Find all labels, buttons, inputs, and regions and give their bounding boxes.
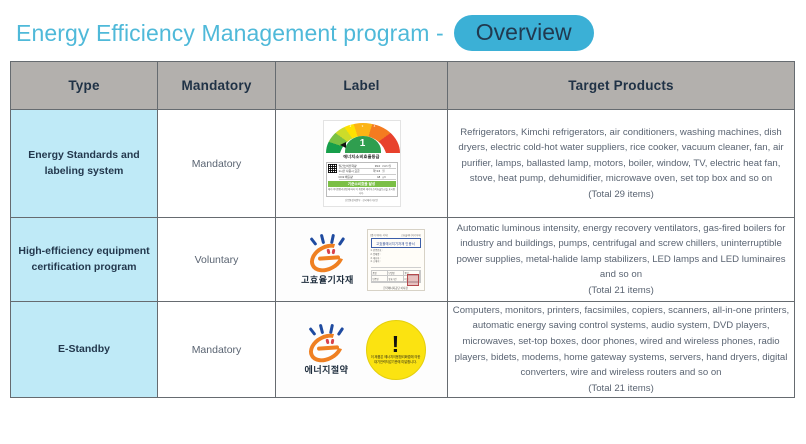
energy-label-caption: 에너지소비효율등급 [326,154,398,160]
spec-name: CO2 배출량 [339,175,366,179]
certificate-body-line: 4. 소재지 : [371,261,421,265]
ray-icon [309,237,317,246]
certificate-cell: 유효기간 [388,276,404,281]
gauge-tick: 5 [386,124,388,128]
energy-label-issuer: 산업통상자원부 · 한국에너지공단 [326,199,398,202]
gauge-tick: 4 [374,124,376,128]
efficiency-gauge-icon: 1 2 3 4 5 1 [326,123,400,153]
cell-target-products: Automatic luminous intensity, energy rec… [448,218,795,302]
certificate-signature: 한국에너지공단 이사장 [371,286,421,290]
ray-icon [328,323,333,333]
gauge-tick-labels: 1 2 3 4 5 [326,124,400,128]
column-header-label: Label [276,62,448,110]
gauge-tick: 1 [338,124,340,128]
ray-icon [329,233,334,243]
target-products-text: Automatic luminous intensity, energy rec… [457,223,786,281]
standby-warning-badge-icon: ! 이 제품은 에너지이용합리화법에 의한 대기전력저감기준에 미달합니다. [366,320,426,380]
cell-label: 고효율기자재 [별지 제1호 서식] 고효율에너지기자재 고효율에너지기자재 인… [276,218,448,302]
programs-table-wrapper: Type Mandatory Label Target Products Ene… [10,61,792,398]
energy-saving-logo: 에너지절약 [298,324,356,376]
cell-mandatory: Mandatory [158,302,276,398]
ray-icon [319,233,325,243]
spec-unit: 원 [382,169,395,173]
ray-icon [318,323,324,333]
target-products-total: (Total 21 items) [588,285,654,296]
table-row: High-efficiency equipment certification … [11,218,795,302]
target-products-total: (Total 29 items) [588,189,654,200]
cell-target-products: Refrigerators, Kimchi refrigerators, air… [448,110,795,218]
target-products-text: Computers, monitors, printers, facsimile… [453,305,789,378]
target-products-text: Refrigerators, Kimchi refrigerators, air… [458,127,783,185]
gauge-tick: 3 [362,124,364,128]
energy-label-top: 월간소비전력량 39.0 kWh/월 1시간 사용시 요금 약 3.6 원 [328,164,396,180]
column-header-mandatory: Mandatory [158,62,276,110]
page-title-text: Energy Efficiency Management program - [16,20,444,47]
column-header-target-products: Target Products [448,62,795,110]
table-header: Type Mandatory Label Target Products [11,62,795,110]
table-row: Energy Standards and labeling system Man… [11,110,795,218]
certificate-cell: 인증일 [372,276,388,281]
e-eye-icon [326,248,330,253]
e-eye-icon [330,338,333,343]
page-title: Energy Efficiency Management program - O… [0,0,806,52]
programs-table: Type Mandatory Label Target Products Ene… [10,61,795,398]
spec-unit: g/h [382,175,395,179]
energy-label-footnote: 에너지이용합리화법에 따라 이 제품의 에너지소비효율등급을 표시합니다. [328,188,396,195]
spec-value: 39.0 [367,164,380,168]
certificate-title: 고효율에너지기자재 인증서 [371,238,421,248]
gauge-tick: 2 [350,124,352,128]
energy-label-green-bar: 기준소비효율 달성 [328,181,396,187]
spec-name: 1시간 사용시 요금 [339,169,366,173]
e-smile-icon [301,324,353,362]
certificate-cell: 모델명 [388,271,404,276]
ray-icon [308,327,316,336]
energy-label-info-panel: 월간소비전력량 39.0 kWh/월 1시간 사용시 요금 약 3.6 원 [326,162,398,197]
table-header-row: Type Mandatory Label Target Products [11,62,795,110]
qr-code-icon [328,164,337,173]
certificate-header: [별지 제1호 서식] 고효율에너지기자재 [371,233,421,237]
high-efficiency-label-images: 고효율기자재 [별지 제1호 서식] 고효율에너지기자재 고효율에너지기자재 인… [276,229,447,291]
column-header-type: Type [11,62,158,110]
cell-label: 1 2 3 4 5 1 에너지소비효율등급 [276,110,448,218]
spec-row: CO2 배출량 18 g/h [339,175,396,180]
certificate-header-left: [별지 제1호 서식] [371,233,388,237]
overview-badge: Overview [454,15,594,51]
e-smile-icon [302,234,354,272]
energy-grade-label-image: 1 2 3 4 5 1 에너지소비효율등급 [323,120,401,206]
cell-type: High-efficiency equipment certification … [11,218,158,302]
cell-label: 에너지절약 ! 이 제품은 에너지이용합리화법에 의한 대기전력저감기준에 미달… [276,302,448,398]
cell-mandatory: Mandatory [158,110,276,218]
e-eye-icon [325,338,329,343]
energy-saving-logo-text: 에너지절약 [298,363,356,376]
e-standby-label-images: 에너지절약 ! 이 제품은 에너지이용합리화법에 의한 대기전력저감기준에 미달… [276,320,447,380]
spec-unit: kWh/월 [382,164,395,168]
certificate-divider [371,267,421,268]
cell-mandatory: Voluntary [158,218,276,302]
cell-type: Energy Standards and labeling system [11,110,158,218]
certificate-document-image: [별지 제1호 서식] 고효율에너지기자재 고효율에너지기자재 인증서 1. 인… [367,229,425,291]
table-body: Energy Standards and labeling system Man… [11,110,795,398]
table-row: E-Standby Mandatory [11,302,795,398]
certificate-header-right: 고효율에너지기자재 [401,233,421,237]
energy-label-spec-rows: 월간소비전력량 39.0 kWh/월 1시간 사용시 요금 약 3.6 원 [339,164,396,180]
spec-value: 18 [367,175,380,179]
high-efficiency-logo: 고효율기자재 [299,234,357,286]
e-eye-icon [331,248,334,253]
spec-value: 약 3.6 [367,169,380,173]
official-seal-icon [407,274,419,286]
exclamation-icon: ! [392,334,400,355]
cell-type: E-Standby [11,302,158,398]
spec-name: 월간소비전력량 [339,164,366,168]
cell-target-products: Computers, monitors, printers, facsimile… [448,302,795,398]
certificate-cell: 품명 [372,271,388,276]
standby-warning-text: 이 제품은 에너지이용합리화법에 의한 대기전력저감기준에 미달합니다. [367,355,425,365]
energy-grade-number: 1 [326,139,400,149]
high-efficiency-logo-text: 고효율기자재 [299,273,357,286]
target-products-total: (Total 21 items) [588,383,654,394]
